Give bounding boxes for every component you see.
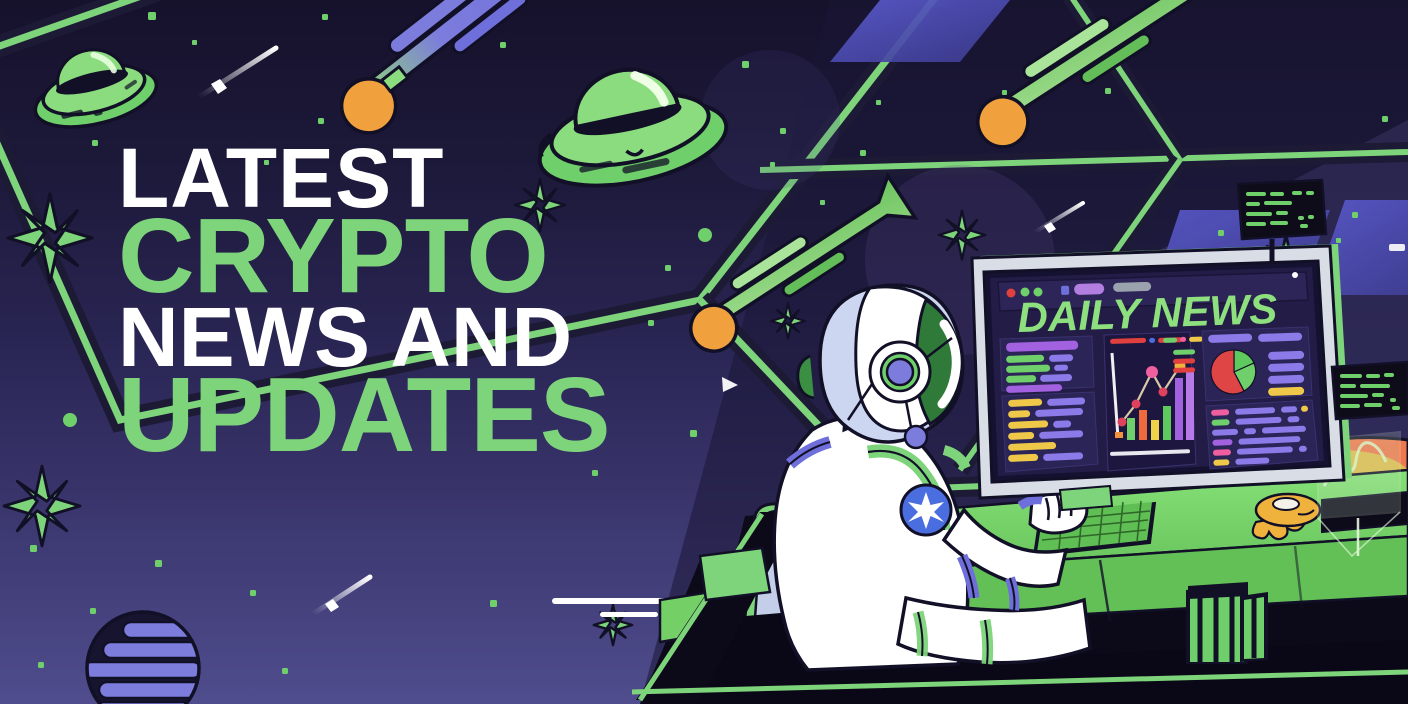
dash-list-panel: [1206, 400, 1318, 469]
mission-badge: [901, 485, 951, 535]
window-dot-close: [1007, 289, 1016, 298]
page-title: LATEST CRYPTO NEWS AND UPDATES: [118, 142, 718, 462]
dash-pie-panel: [1202, 327, 1312, 401]
speed-line: [552, 598, 670, 604]
pie-chart: [1211, 350, 1256, 394]
monitor[interactable]: DAILY NEWS: [972, 244, 1352, 510]
dash-panel-left-bottom: [1002, 392, 1098, 472]
headline-line-2: CRYPTO: [118, 210, 718, 303]
headline-line-4: UPDATES: [118, 369, 718, 462]
terminal-bottom-right: [1332, 362, 1408, 419]
canisters: [1186, 582, 1268, 664]
speed-line: [600, 612, 658, 617]
dash-panel-left-top: [1000, 336, 1094, 393]
banner-illustration: DAILY NEWS: [0, 0, 1408, 704]
dash-chart-panel: [1104, 332, 1203, 471]
